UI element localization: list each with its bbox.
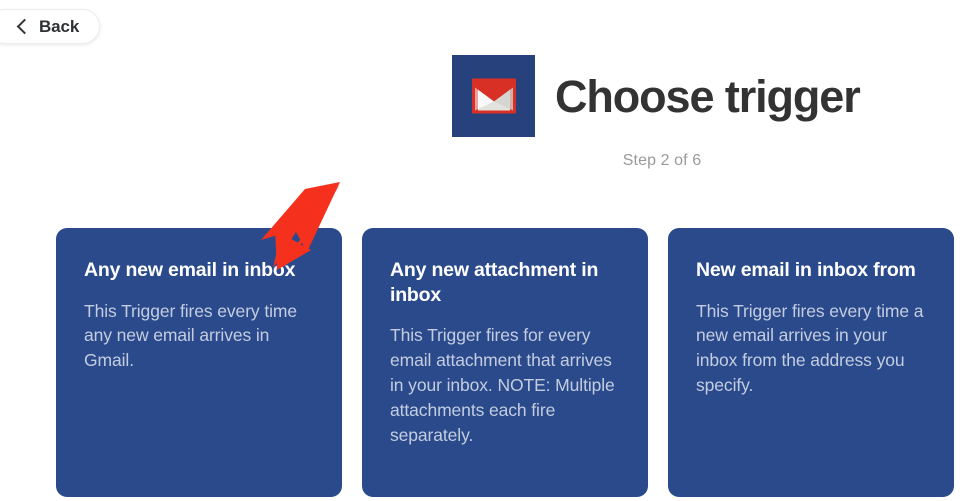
trigger-card-title: Any new email in inbox: [84, 258, 314, 283]
trigger-card-description: This Trigger fires every time any new em…: [84, 299, 314, 374]
trigger-card-description: This Trigger fires for every email attac…: [390, 323, 620, 447]
chevron-left-icon: [17, 19, 33, 35]
back-button[interactable]: Back: [0, 9, 100, 44]
trigger-card-title: Any new attachment in inbox: [390, 258, 620, 307]
trigger-card-new-email-in-inbox-from[interactable]: New email in inbox from This Trigger fir…: [668, 228, 954, 497]
page-header: Choose trigger: [452, 55, 860, 137]
step-indicator: Step 2 of 6: [452, 152, 872, 170]
back-button-label: Back: [39, 18, 79, 35]
page-title: Choose trigger: [555, 74, 860, 119]
trigger-card-list: Any new email in inbox This Trigger fire…: [56, 228, 960, 497]
trigger-card-title: New email in inbox from: [696, 258, 926, 283]
trigger-card-any-new-attachment-in-inbox[interactable]: Any new attachment in inbox This Trigger…: [362, 228, 648, 497]
gmail-icon: [452, 55, 535, 137]
trigger-card-description: This Trigger fires every time a new emai…: [696, 299, 926, 398]
trigger-card-any-new-email-in-inbox[interactable]: Any new email in inbox This Trigger fire…: [56, 228, 342, 497]
